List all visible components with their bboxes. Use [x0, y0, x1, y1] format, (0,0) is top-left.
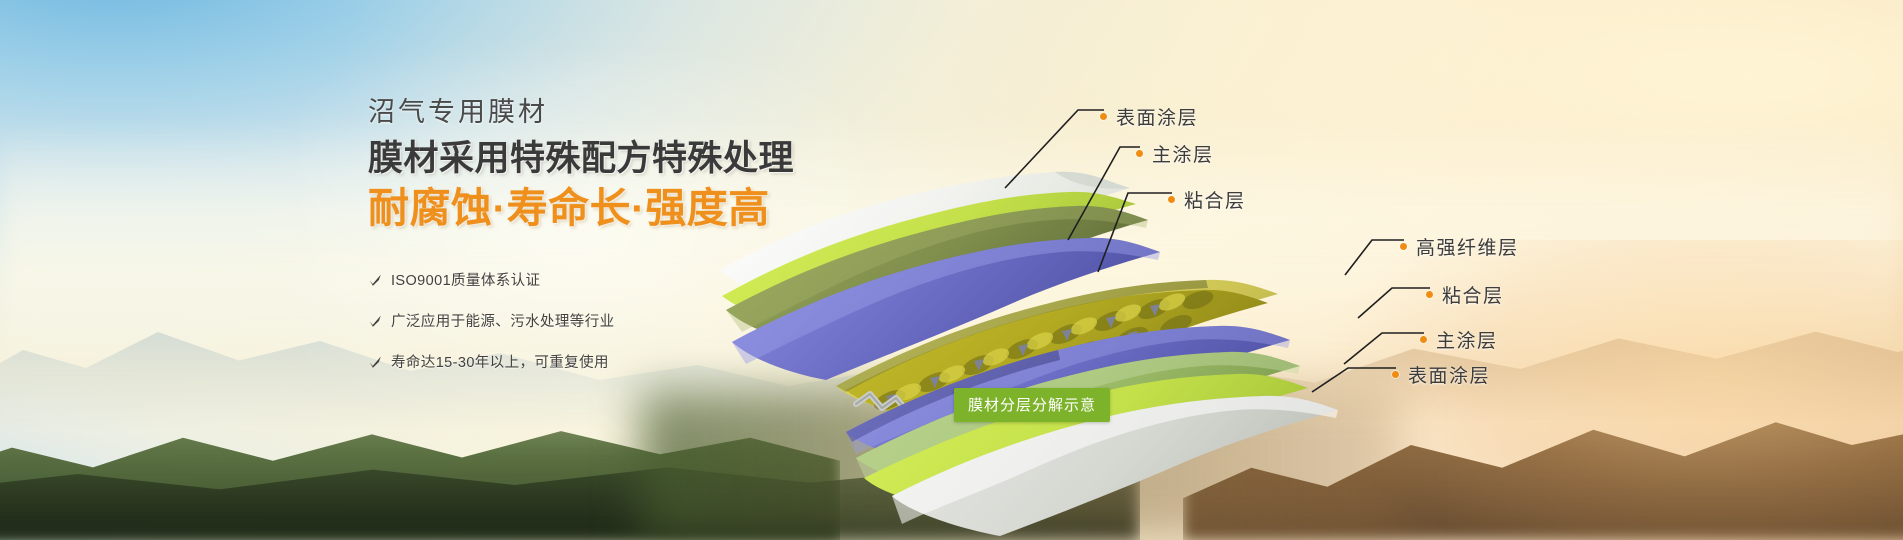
check-icon	[368, 314, 382, 328]
callout-surface-coat-top[interactable]: 表面涂层	[1100, 103, 1198, 130]
callout-label: 主涂层	[1152, 140, 1214, 167]
callout-label: 表面涂层	[1116, 103, 1198, 130]
callout-label: 主涂层	[1436, 326, 1498, 353]
diagram-caption-tag: 膜材分层分解示意	[954, 388, 1110, 422]
callout-dot-icon	[1168, 196, 1175, 203]
callout-label: 表面涂层	[1408, 361, 1490, 388]
feature-label: 广泛应用于能源、污水处理等行业	[391, 310, 615, 331]
callout-dot-icon	[1392, 371, 1399, 378]
callout-dot-icon	[1100, 113, 1107, 120]
feature-label: 寿命达15-30年以上，可重复使用	[391, 351, 609, 372]
callout-adhesive-upper[interactable]: 粘合层	[1168, 186, 1246, 213]
callout-main-coat-bottom[interactable]: 主涂层	[1420, 326, 1498, 353]
callout-high-strength-fibre[interactable]: 高强纤维层	[1400, 233, 1519, 260]
callout-dot-icon	[1400, 243, 1407, 250]
callout-surface-coat-bottom[interactable]: 表面涂层	[1392, 361, 1490, 388]
callout-label: 高强纤维层	[1416, 233, 1519, 260]
callout-dot-icon	[1136, 150, 1143, 157]
callout-adhesive-lower[interactable]: 粘合层	[1426, 281, 1504, 308]
callout-label: 粘合层	[1442, 281, 1504, 308]
check-icon	[368, 273, 382, 287]
check-icon	[368, 355, 382, 369]
callout-dot-icon	[1426, 291, 1433, 298]
callout-label: 粘合层	[1184, 186, 1246, 213]
feature-label: ISO9001质量体系认证	[391, 269, 540, 290]
callout-main-coat-top[interactable]: 主涂层	[1136, 140, 1214, 167]
callout-dot-icon	[1420, 336, 1427, 343]
